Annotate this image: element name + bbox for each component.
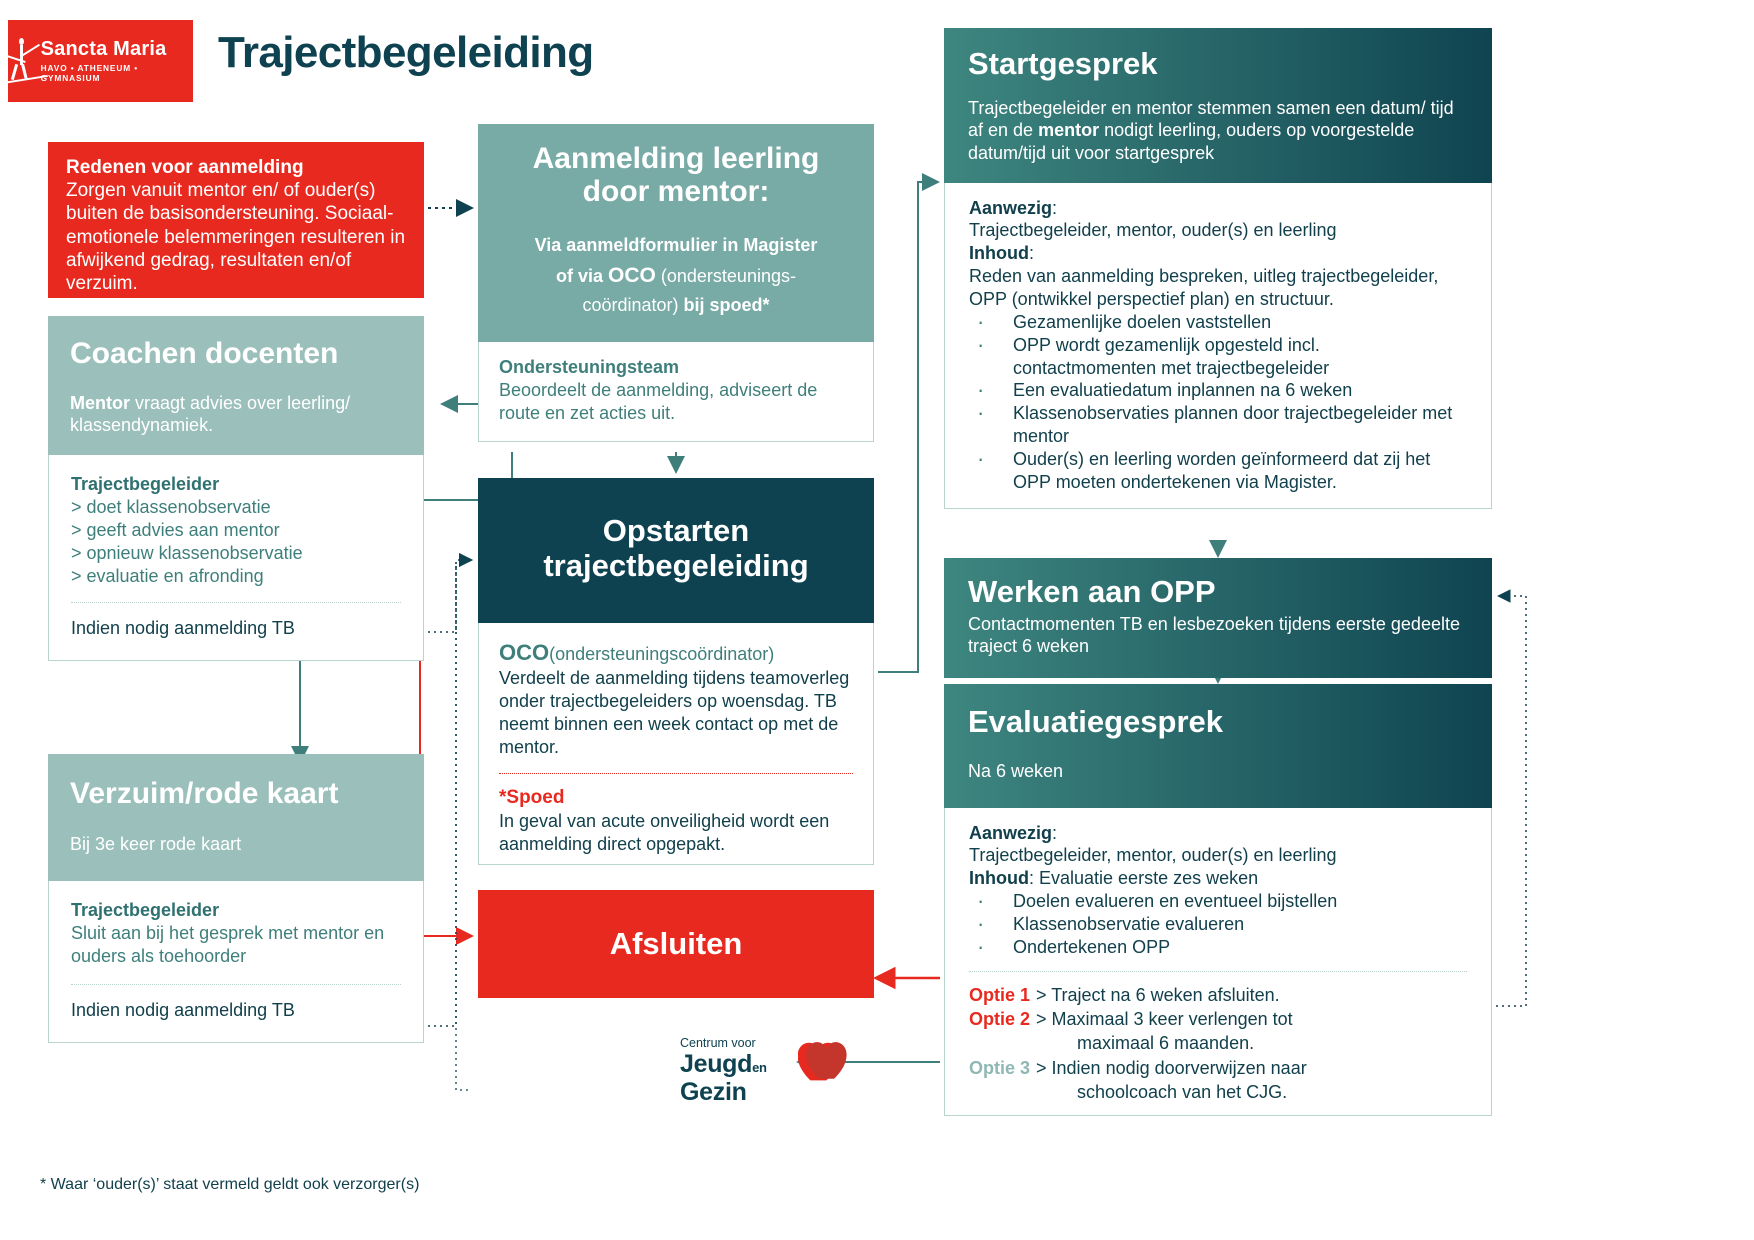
cjg-line2-small: en — [752, 1060, 767, 1075]
redenen-body: Zorgen vanuit mentor en/ of ouder(s) bui… — [66, 179, 406, 295]
verzuim-title: Verzuim/rode kaart — [70, 778, 402, 810]
card-coachen-docenten: Coachen docenten Mentor vraagt advies ov… — [48, 316, 424, 661]
coachen-item-0: > doet klassenobservatie — [71, 496, 401, 519]
opstarten-oco-label: OCO — [499, 640, 549, 665]
optie-2-text: > Maximaal 3 keer verlengen tot — [1036, 1008, 1293, 1030]
spoed-label: *Spoed — [499, 786, 853, 810]
optie-row: schoolcoach van het CJG. — [969, 1081, 1467, 1103]
list-item: Gezamenlijke doelen vaststellen — [969, 311, 1467, 334]
opstarten-header: Opstarten trajectbegeleiding — [478, 478, 874, 623]
aanmelding-sub-line3-a: coördinator) — [582, 295, 678, 315]
list-item: Doelen evalueren en eventueel bijstellen — [969, 890, 1467, 913]
evaluatie-inhoud-text: Evaluatie eerste zes weken — [1034, 868, 1258, 888]
aanmelding-title-line1: Aanmelding leerling — [498, 142, 854, 175]
optie-row: Optie 1> Traject na 6 weken afsluiten. — [969, 984, 1467, 1006]
cjg-line2-main: Jeugd — [680, 1050, 752, 1078]
infographic-canvas: Sancta Maria HAVO • ATHENEUM • GYMNASIUM… — [0, 0, 1754, 1240]
footnote: * Waar ‘ouder(s)’ staat vermeld geldt oo… — [40, 1176, 419, 1194]
cjg-line3: Gezin — [680, 1078, 747, 1107]
redenen-title: Redenen voor aanmelding — [66, 156, 406, 179]
aanmelding-title-line2: door mentor: — [498, 175, 854, 208]
werken-opp-title: Werken aan OPP — [968, 576, 1468, 609]
verzuim-body-lead: Trajectbegeleider — [71, 899, 401, 922]
list-item: Klassenobservatie evalueren — [969, 913, 1467, 936]
verzuim-subtitle: Bij 3e keer rode kaart — [70, 834, 402, 855]
list-item: Ondertekenen OPP — [969, 936, 1467, 959]
coachen-item-3: > evaluatie en afronding — [71, 565, 401, 588]
school-logo: Sancta Maria HAVO • ATHENEUM • GYMNASIUM — [8, 20, 193, 102]
cjg-line1: Centrum voor — [680, 1036, 756, 1050]
spoed-text: In geval van acute onveiligheid wordt ee… — [499, 810, 853, 856]
list-item: Klassenobservaties plannen door trajectb… — [969, 402, 1467, 448]
startgesprek-subtitle: Trajectbegeleider en mentor stemmen same… — [968, 97, 1468, 165]
aanmelding-sub-line2-a: of via — [556, 266, 603, 286]
evaluatie-title: Evaluatiegesprek — [968, 706, 1468, 739]
ondersteuningsteam-text: Beoordeelt de aanmelding, adviseert de r… — [499, 379, 853, 425]
startgesprek-bullet-list: Gezamenlijke doelen vaststellen OPP word… — [969, 311, 1467, 494]
werken-opp-subtitle: Contactmomenten TB en lesbezoeken tijden… — [968, 613, 1468, 658]
startgesprek-aanwezig-line: Aanwezig: — [969, 197, 1467, 220]
evaluatie-inhoud-line: Inhoud: Evaluatie eerste zes weken — [969, 867, 1467, 890]
optie-row: maximaal 6 maanden. — [969, 1032, 1467, 1054]
card-aanmelding-leerling: Aanmelding leerling door mentor: Via aan… — [478, 124, 874, 442]
aanmelding-sub-line2-b: (ondersteunings- — [661, 266, 796, 286]
optie-1-label: Optie 1 — [969, 984, 1030, 1006]
verzuim-footer: Indien nodig aanmelding TB — [71, 984, 401, 1034]
card-evaluatiegesprek: Evaluatiegesprek Na 6 weken Aanwezig: Tr… — [944, 684, 1492, 1116]
optie-3-text-cont: schoolcoach van het CJG. — [1077, 1081, 1287, 1103]
verzuim-body: Trajectbegeleider Sluit aan bij het gesp… — [48, 881, 424, 1043]
startgesprek-body: Aanwezig: Trajectbegeleider, mentor, oud… — [944, 183, 1492, 509]
list-item: OPP wordt gezamenlijk opgesteld incl. co… — [969, 334, 1467, 380]
evaluatie-aanwezig-text: Trajectbegeleider, mentor, ouder(s) en l… — [969, 844, 1467, 867]
list-item: Een evaluatiedatum inplannen na 6 weken — [969, 379, 1467, 402]
heart-icon — [798, 1038, 860, 1100]
coachen-subtitle-bold: Mentor — [70, 393, 130, 413]
evaluatie-body: Aanwezig: Trajectbegeleider, mentor, oud… — [944, 808, 1492, 1117]
card-opstarten-trajectbegeleiding: Opstarten trajectbegeleiding OCO(onderst… — [478, 478, 874, 865]
ondersteuningsteam-lead: Ondersteuningsteam — [499, 356, 853, 379]
afsluiten-title: Afsluiten — [610, 928, 743, 961]
logo-school-name: Sancta Maria — [41, 39, 193, 59]
startgesprek-title: Startgesprek — [968, 48, 1468, 81]
startgesprek-aanwezig-label: Aanwezig — [969, 198, 1052, 218]
card-verzuim-rode-kaart: Verzuim/rode kaart Bij 3e keer rode kaar… — [48, 754, 424, 1043]
card-startgesprek: Startgesprek Trajectbegeleider en mentor… — [944, 28, 1492, 509]
optie-1-text: > Traject na 6 weken afsluiten. — [1036, 984, 1280, 1006]
coachen-title: Coachen docenten — [70, 338, 402, 370]
card-afsluiten: Afsluiten — [478, 890, 874, 998]
coachen-footer: Indien nodig aanmelding TB — [71, 602, 401, 652]
aanmelding-header: Aanmelding leerling door mentor: Via aan… — [478, 124, 874, 342]
opstarten-body-text: Verdeelt de aanmelding tijdens teamoverl… — [499, 667, 853, 758]
evaluatie-aanwezig-label: Aanwezig — [969, 823, 1052, 843]
verzuim-body-text: Sluit aan bij het gesprek met mentor en … — [71, 922, 401, 968]
cjg-line2: Jeugden — [680, 1050, 767, 1079]
opstarten-oco-line: OCO(ondersteuningscoördinator) — [499, 639, 853, 667]
startgesprek-aanwezig-text: Trajectbegeleider, mentor, ouder(s) en l… — [969, 219, 1467, 242]
optie-2-label: Optie 2 — [969, 1008, 1030, 1030]
aanmelding-sub-line1: Via aanmeldformulier in Magister — [535, 235, 818, 255]
coachen-subtitle: Mentor vraagt advies over leerling/ klas… — [70, 392, 402, 437]
coachen-header: Coachen docenten Mentor vraagt advies ov… — [48, 316, 424, 455]
evaluatie-inhoud-label: Inhoud — [969, 868, 1029, 888]
optie-row: Optie 2> Maximaal 3 keer verlengen tot — [969, 1008, 1467, 1030]
opstarten-oco-paren: (ondersteuningscoördinator) — [549, 644, 774, 664]
tightrope-walker-icon — [8, 35, 35, 87]
verzuim-header: Verzuim/rode kaart Bij 3e keer rode kaar… — [48, 754, 424, 881]
startgesprek-inhoud-text: Reden van aanmelding bespreken, uitleg t… — [969, 265, 1467, 311]
startgesprek-inhoud-line: Inhoud: — [969, 242, 1467, 265]
cjg-logo: Centrum voor Jeugden Gezin — [680, 1030, 860, 1106]
card-werken-aan-opp: Werken aan OPP Contactmomenten TB en les… — [944, 558, 1492, 678]
optie-2-text-cont: maximaal 6 maanden. — [1077, 1032, 1254, 1054]
startgesprek-header: Startgesprek Trajectbegeleider en mentor… — [944, 28, 1492, 183]
optie-row: Optie 3> Indien nodig doorverwijzen naar — [969, 1057, 1467, 1079]
optie-3-label: Optie 3 — [969, 1057, 1030, 1079]
card-redenen-voor-aanmelding: Redenen voor aanmelding Zorgen vanuit me… — [48, 142, 424, 298]
aanmelding-oco-label: OCO — [608, 264, 656, 287]
evaluatie-header: Evaluatiegesprek Na 6 weken — [944, 684, 1492, 808]
startgesprek-sub-bold: mentor — [1038, 120, 1099, 140]
coachen-body: Trajectbegeleider > doet klassenobservat… — [48, 455, 424, 661]
opstarten-spoed-block: *Spoed In geval van acute onveiligheid w… — [499, 773, 853, 856]
aanmelding-subtitle: Via aanmeldformulier in Magister of via … — [498, 232, 854, 320]
aanmelding-sub-line3-b: bij spoed* — [684, 295, 770, 315]
page-title: Trajectbegeleiding — [218, 28, 594, 78]
evaluatie-bullet-list: Doelen evalueren en eventueel bijstellen… — [969, 890, 1467, 959]
list-item: Ouder(s) en leerling worden geïnformeerd… — [969, 448, 1467, 494]
coachen-item-2: > opnieuw klassenobservatie — [71, 542, 401, 565]
evaluatie-subtitle: Na 6 weken — [968, 761, 1468, 782]
logo-school-subtitle: HAVO • ATHENEUM • GYMNASIUM — [41, 63, 193, 83]
evaluatie-aanwezig-line: Aanwezig: — [969, 822, 1467, 845]
startgesprek-inhoud-label: Inhoud — [969, 243, 1029, 263]
aanmelding-body: Ondersteuningsteam Beoordeelt de aanmeld… — [478, 342, 874, 442]
opstarten-body: OCO(ondersteuningscoördinator) Verdeelt … — [478, 623, 874, 864]
opstarten-title-line1: Opstarten — [498, 514, 854, 549]
opstarten-title-line2: trajectbegeleiding — [498, 549, 854, 584]
coachen-item-1: > geeft advies aan mentor — [71, 519, 401, 542]
coachen-body-lead: Trajectbegeleider — [71, 473, 401, 496]
evaluatie-opties: Optie 1> Traject na 6 weken afsluiten. O… — [969, 971, 1467, 1104]
optie-3-text: > Indien nodig doorverwijzen naar — [1036, 1057, 1307, 1079]
